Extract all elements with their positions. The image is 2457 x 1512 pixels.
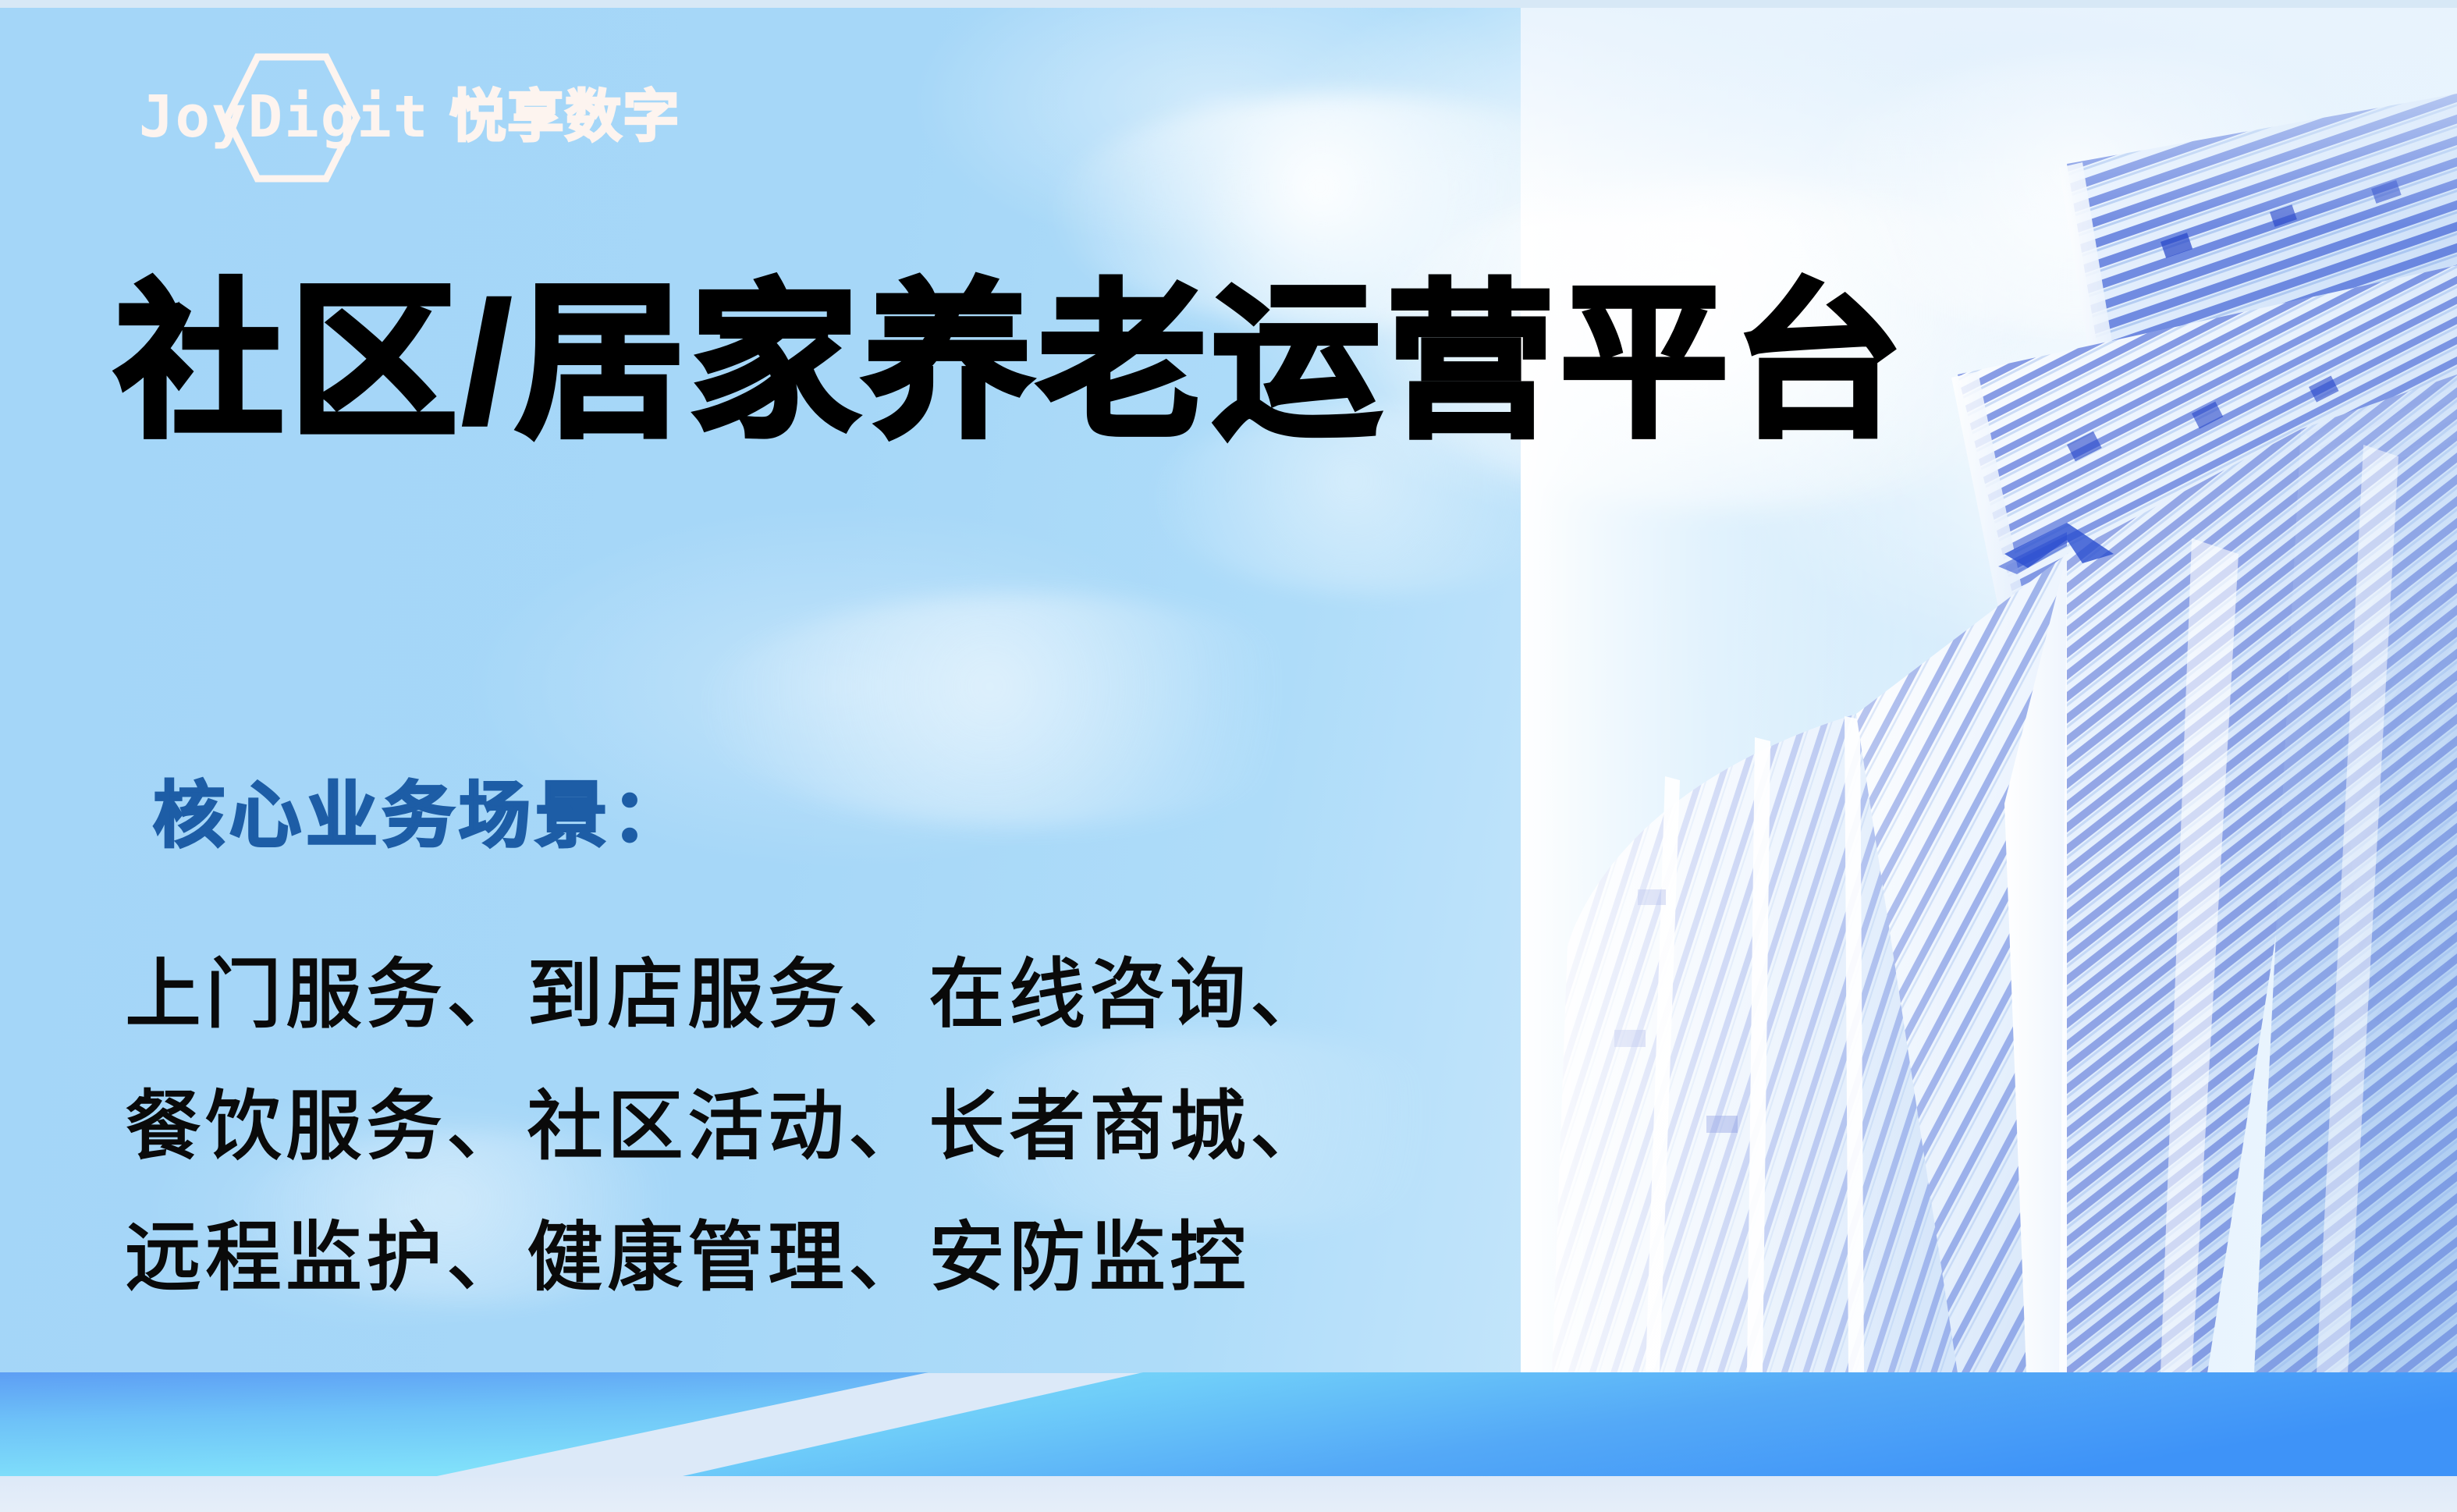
brand-logo: JoyDigit 悦享数字 [139, 70, 680, 164]
bottom-base-strip [0, 1476, 2457, 1512]
bottom-decorative-band [0, 1372, 2457, 1476]
section-heading: 核心业务场景： [153, 780, 688, 852]
scenario-line: 远程监护、健康管理、安防监控 [125, 1191, 1330, 1323]
top-hairline-divider [0, 0, 2457, 8]
page-title: 社区/居家养老运营平台 [115, 269, 1908, 457]
band-shape-right [683, 1372, 2457, 1476]
logo-wordmark-latin: JoyDigit [139, 88, 429, 146]
scenario-line: 上门服务、到店服务、在线咨询、 [125, 928, 1330, 1060]
slide-root: JoyDigit 悦享数字 社区/居家养老运营平台 核心业务场景： 上门服务、到… [0, 0, 2457, 1512]
scenario-line: 餐饮服务、社区活动、长者商城、 [125, 1060, 1330, 1192]
logo-wordmark-chinese: 悦享数字 [449, 89, 680, 145]
scenario-list: 上门服务、到店服务、在线咨询、 餐饮服务、社区活动、长者商城、 远程监护、健康管… [125, 928, 1330, 1323]
skyscraper-photo [1521, 8, 2457, 1373]
logo-mark: JoyDigit [139, 70, 429, 164]
